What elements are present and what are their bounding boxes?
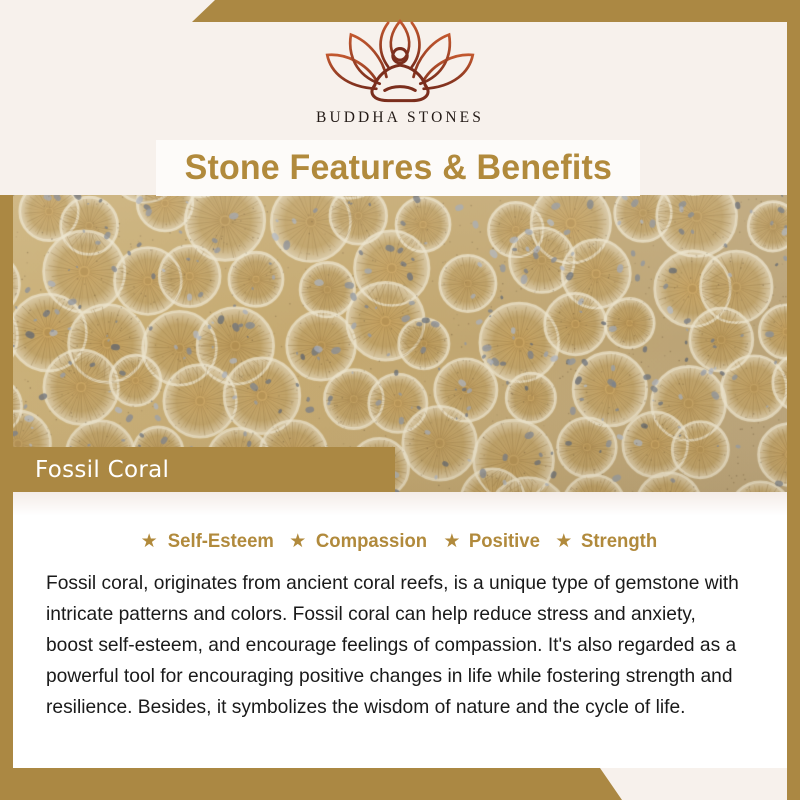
benefits-list: ★Self-Esteem★Compassion★Positive★Strengt… [13, 530, 787, 553]
star-icon: ★ [443, 532, 460, 551]
benefit-item: ★Compassion [289, 530, 430, 553]
star-icon: ★ [141, 532, 158, 551]
benefit-label: Compassion [316, 530, 427, 553]
frame-left-upper-band [0, 195, 13, 463]
brand-logo: BUDDHA STONES [315, 16, 485, 127]
benefit-item: ★Positive [443, 530, 542, 553]
benefit-item: ★Self-Esteem [141, 530, 277, 553]
benefit-label: Positive [469, 530, 540, 553]
stone-description: Fossil coral, originates from ancient co… [46, 568, 747, 723]
content-panel: ★Self-Esteem★Compassion★Positive★Strengt… [13, 492, 787, 768]
brand-name: BUDDHA STONES [316, 109, 484, 127]
panel-top-fade [13, 492, 787, 516]
star-icon: ★ [289, 532, 306, 551]
poster-root: BUDDHA STONES Stone Features & Benefits … [0, 0, 800, 800]
stone-name-badge: Fossil Coral [13, 447, 395, 492]
star-icon: ★ [555, 532, 572, 551]
title-banner: Stone Features & Benefits [156, 140, 640, 196]
page-title: Stone Features & Benefits [184, 148, 611, 188]
benefit-label: Self-Esteem [167, 530, 273, 553]
benefit-label: Strength [581, 530, 657, 553]
frame-left-band [0, 463, 13, 800]
benefit-item: ★Strength [555, 530, 659, 553]
stone-name-label: Fossil Coral [35, 457, 169, 483]
hero-image: Fossil Coral [13, 195, 787, 492]
lotus-meditation-icon [315, 16, 485, 104]
frame-bottom-band [0, 768, 800, 800]
